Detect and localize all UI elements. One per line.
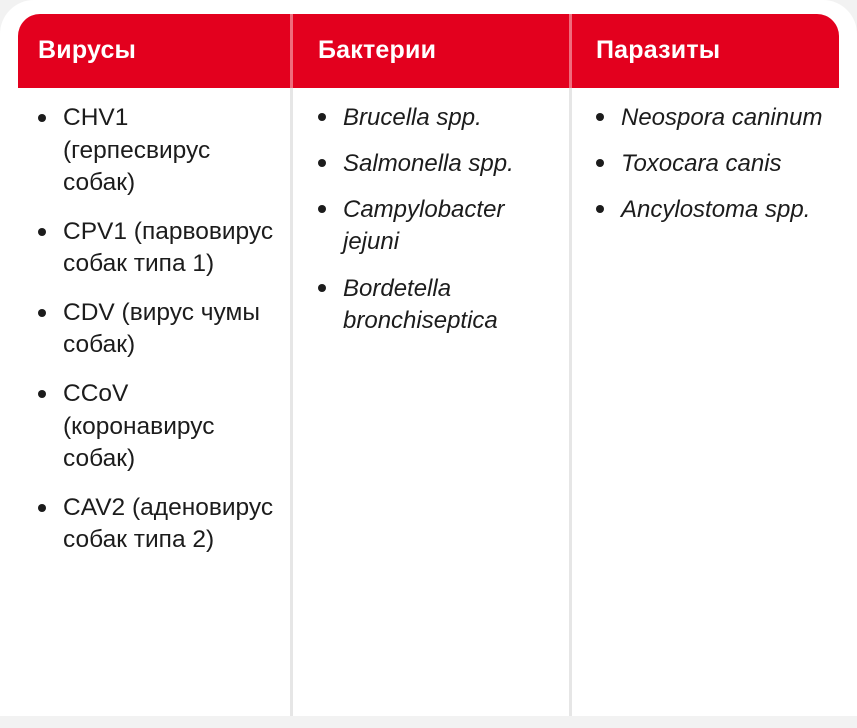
bullet-icon — [596, 159, 604, 167]
bullet-icon — [38, 390, 46, 398]
list-item: CHV1 (герпесвирус собак) — [38, 102, 276, 200]
bullet-icon — [318, 284, 326, 292]
list-item-label: CPV1 (парвовирус собак типа 1) — [63, 218, 273, 278]
table-header-cell-bacteria: Бактерии — [290, 14, 569, 88]
bullet-icon — [38, 228, 46, 236]
list-item: CAV2 (аденовирус собак типа 2) — [38, 492, 276, 557]
bullet-icon — [596, 113, 604, 121]
table-body-cell-bacteria: Brucella spp. Salmonella spp. Campylobac… — [290, 88, 569, 716]
table-header-cell-parasites: Паразиты — [569, 14, 839, 88]
list-item-label: Salmonella spp. — [343, 150, 514, 177]
bullet-icon — [318, 159, 326, 167]
virus-list: CHV1 (герпесвирус собак) CPV1 (парвовиру… — [38, 102, 276, 557]
list-item: Bordetella bronchiseptica — [318, 273, 553, 337]
table-header-row: Вирусы Бактерии Паразиты — [18, 14, 839, 88]
pathogen-table: Вирусы Бактерии Паразиты CHV1 (герпесвир… — [18, 14, 839, 716]
bullet-icon — [318, 113, 326, 121]
list-item: CCoV (коронавирус собак) — [38, 378, 276, 476]
list-item: Salmonella spp. — [318, 148, 553, 180]
card-frame: Вирусы Бактерии Паразиты CHV1 (герпесвир… — [0, 0, 857, 716]
list-item: CDV (вирус чумы собак) — [38, 297, 276, 362]
page-root: Вирусы Бактерии Паразиты CHV1 (герпесвир… — [0, 0, 857, 728]
table-body-cell-viruses: CHV1 (герпесвирус собак) CPV1 (парвовиру… — [18, 88, 290, 716]
list-item-label: Campylobacter jejuni — [343, 196, 504, 255]
bullet-icon — [38, 309, 46, 317]
bullet-icon — [318, 205, 326, 213]
list-item: Ancylostoma spp. — [596, 194, 823, 226]
list-item-label: Neospora caninum — [621, 104, 822, 131]
table-header-cell-viruses: Вирусы — [18, 14, 290, 88]
list-item: CPV1 (парвовирус собак типа 1) — [38, 216, 276, 281]
column-header-label: Паразиты — [596, 37, 720, 65]
list-item: Campylobacter jejuni — [318, 194, 553, 258]
list-item-label: Ancylostoma spp. — [621, 196, 810, 223]
bullet-icon — [38, 114, 46, 122]
list-item-label: CCoV (коронавирус собак) — [63, 380, 214, 472]
parasite-list: Neospora caninum Toxocara canis Ancylost… — [596, 102, 823, 226]
bullet-icon — [38, 504, 46, 512]
list-item-label: Bordetella bronchiseptica — [343, 275, 498, 334]
list-item: Toxocara canis — [596, 148, 823, 180]
column-header-label: Вирусы — [38, 37, 136, 65]
bullet-icon — [596, 205, 604, 213]
table-body-cell-parasites: Neospora caninum Toxocara canis Ancylost… — [569, 88, 839, 716]
list-item: Brucella spp. — [318, 102, 553, 134]
column-header-label: Бактерии — [318, 37, 436, 65]
list-item-label: CAV2 (аденовирус собак типа 2) — [63, 494, 273, 554]
list-item-label: Brucella spp. — [343, 104, 482, 131]
table-body-row: CHV1 (герпесвирус собак) CPV1 (парвовиру… — [18, 88, 839, 716]
list-item-label: CDV (вирус чумы собак) — [63, 299, 260, 359]
list-item-label: CHV1 (герпесвирус собак) — [63, 104, 210, 196]
list-item-label: Toxocara canis — [621, 150, 782, 177]
bacteria-list: Brucella spp. Salmonella spp. Campylobac… — [318, 102, 553, 337]
list-item: Neospora caninum — [596, 102, 823, 134]
